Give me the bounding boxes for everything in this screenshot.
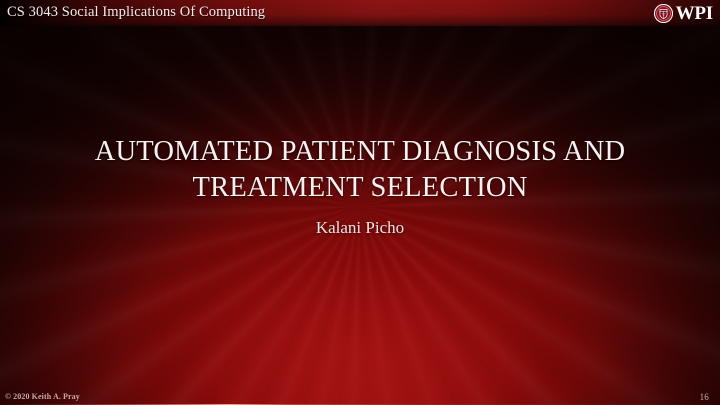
slide-page-number: 16 (700, 392, 709, 402)
copyright-notice: © 2020 Keith A. Pray (5, 392, 80, 402)
slide-subtitle-author: Kalani Picho (60, 217, 660, 239)
slide-footer: © 2020 Keith A. Pray 16 (0, 387, 720, 405)
slide-title: AUTOMATED PATIENT DIAGNOSIS AND TREATMEN… (60, 134, 660, 206)
wpi-wordmark: WPI (676, 4, 713, 23)
wpi-logo[interactable]: WPI (654, 1, 713, 25)
wpi-seal-icon (654, 4, 673, 23)
course-header-title: CS 3043 Social Implications Of Computing (7, 1, 265, 24)
slide-content-area: AUTOMATED PATIENT DIAGNOSIS AND TREATMEN… (0, 26, 720, 381)
presentation-slide: CS 3043 Social Implications Of Computing… (0, 0, 720, 405)
